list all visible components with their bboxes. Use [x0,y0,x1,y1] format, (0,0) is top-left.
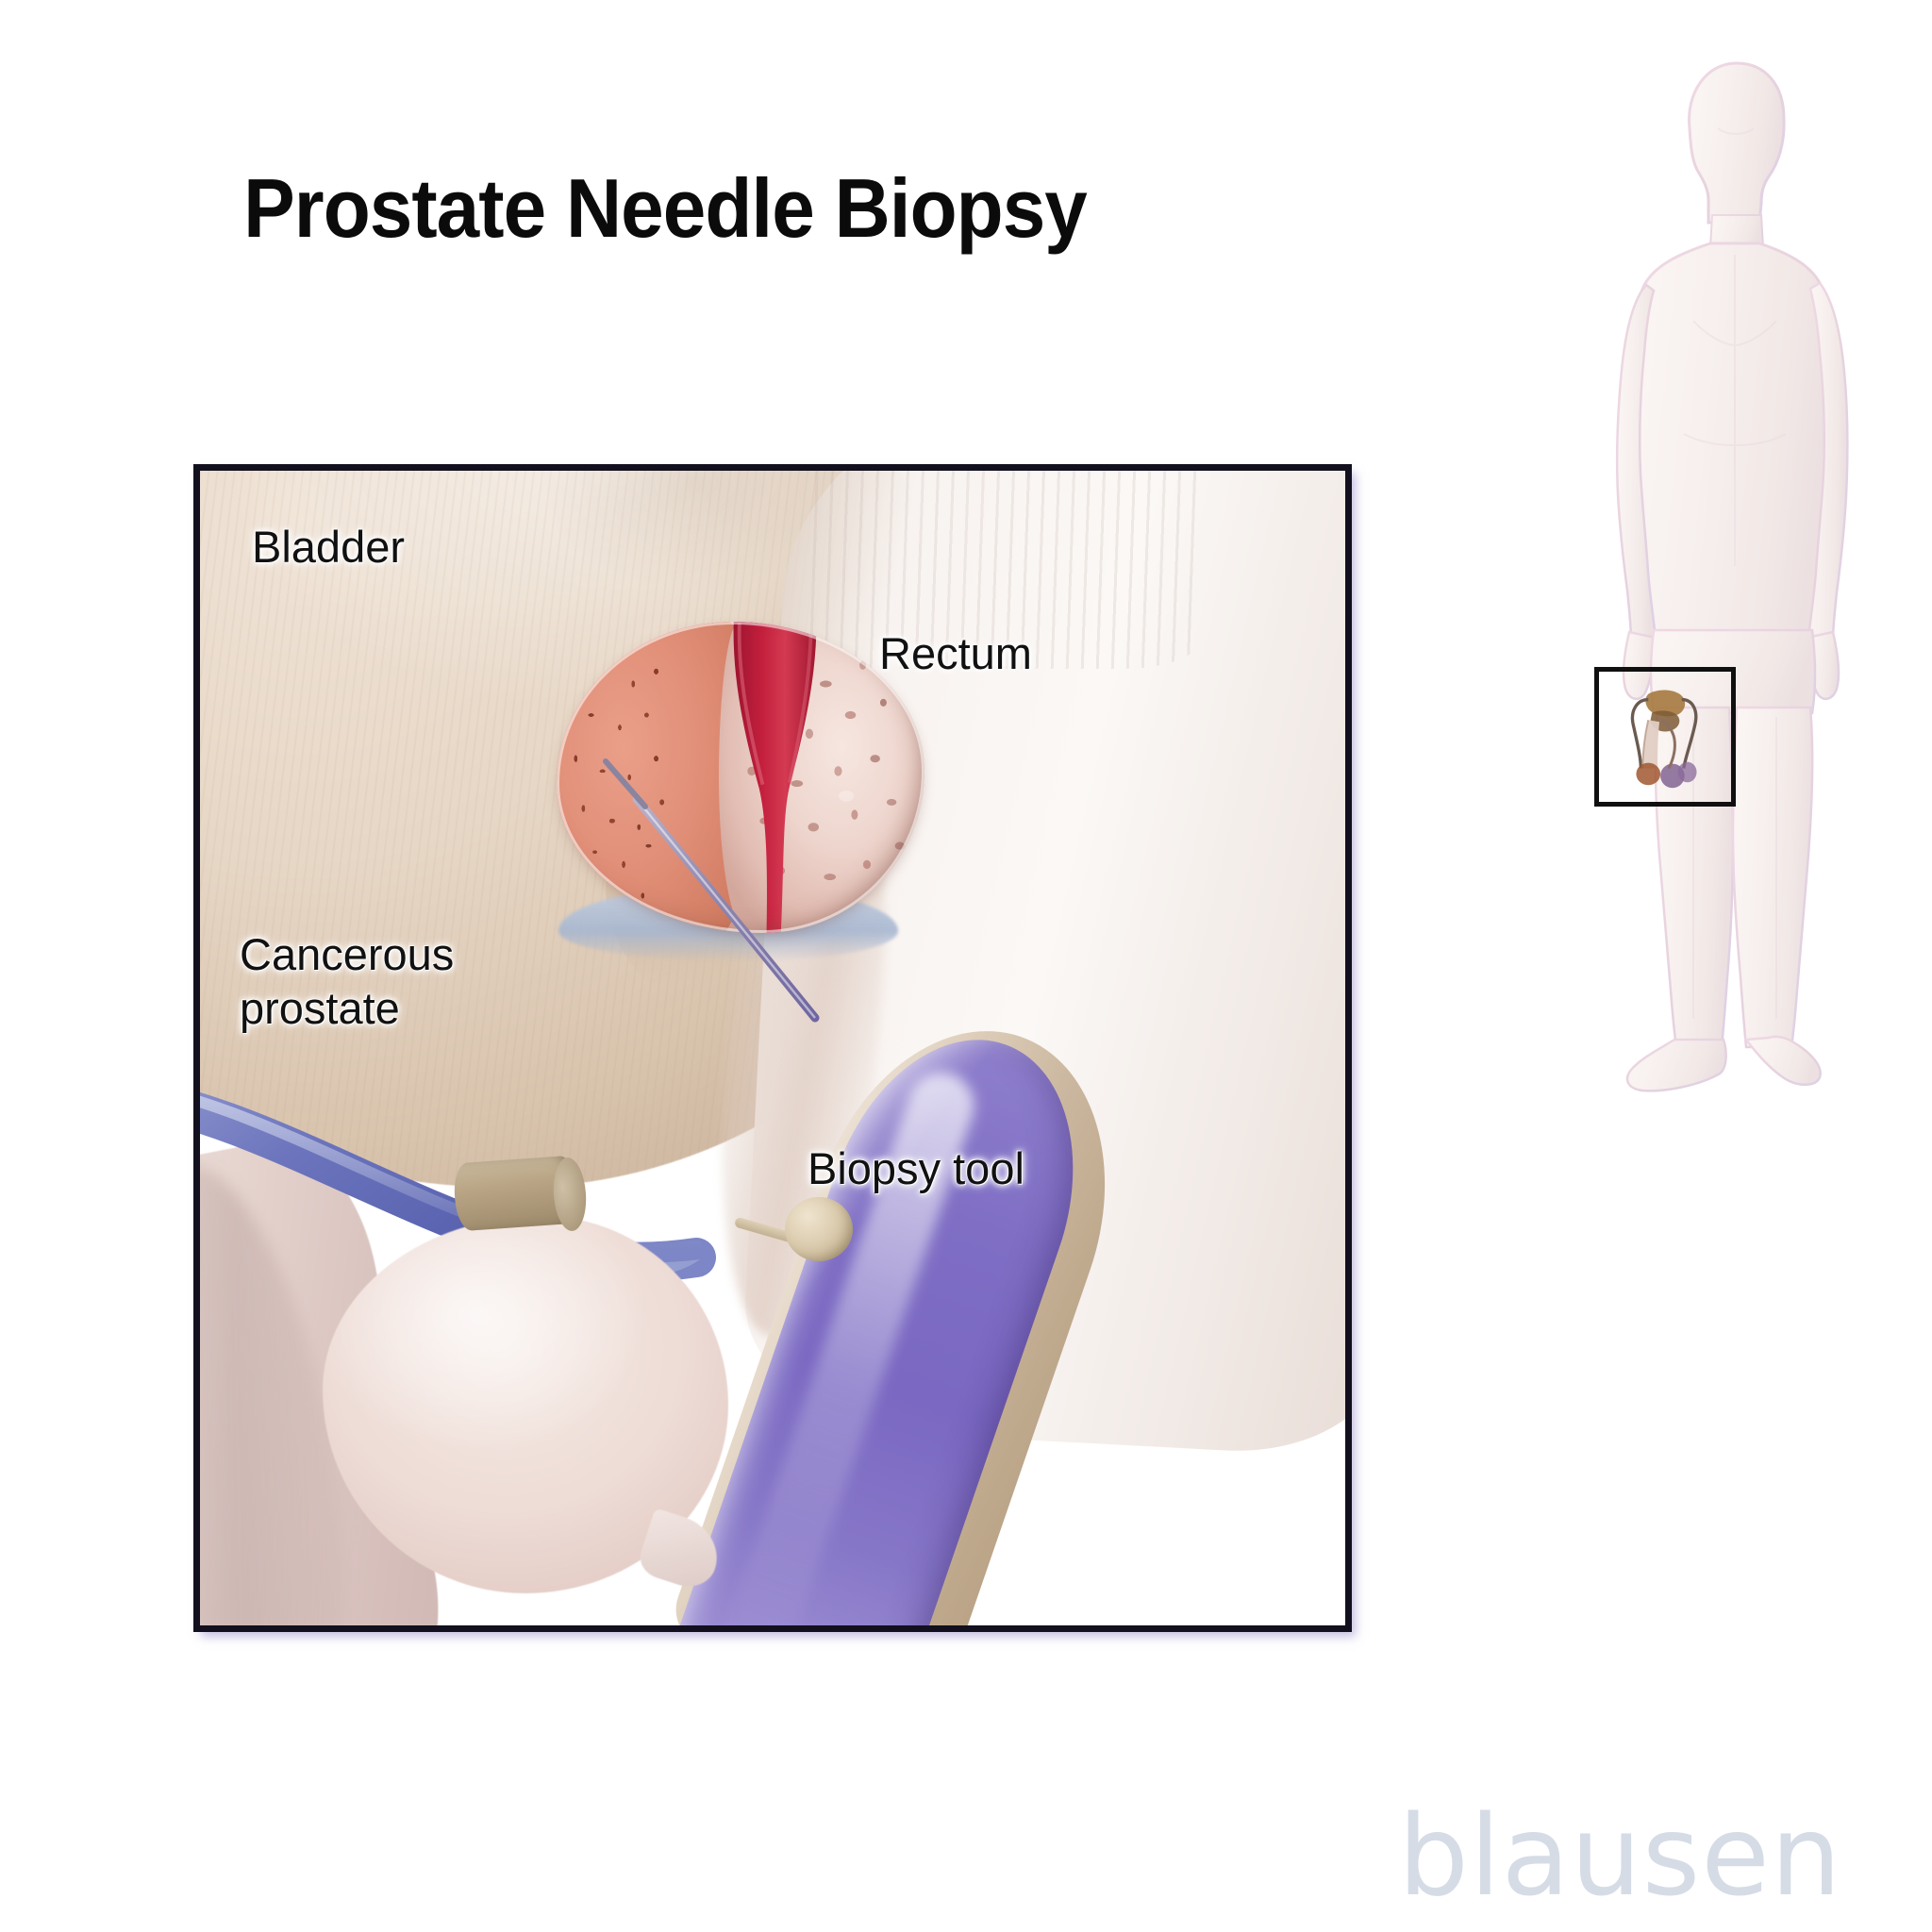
illustration-canvas: Bladder Rectum Cancerous prostate Biopsy… [200,471,1345,1625]
biopsy-core-head [785,1197,853,1261]
illustration-panel: Bladder Rectum Cancerous prostate Biopsy… [193,464,1352,1632]
male-pelvic-organs-icon [1599,672,1731,802]
label-bladder: Bladder [252,520,405,574]
male-body-silhouette [1542,38,1920,1123]
label-cancerous-prostate: Cancerous prostate [240,927,454,1036]
label-cancerous-prostate-line1: Cancerous [240,927,454,981]
label-rectum: Rectum [879,626,1032,680]
pelvis-inset-box [1594,667,1736,807]
label-cancerous-prostate-line2: prostate [240,981,454,1035]
page-title: Prostate Needle Biopsy [226,160,1104,257]
cancerous-prostate-organ [557,622,924,933]
pelvis-inset-art [1599,672,1731,802]
label-biopsy-tool: Biopsy tool [808,1141,1024,1195]
body-figure [1542,38,1920,1123]
blausen-watermark: blausen [1398,1790,1842,1921]
